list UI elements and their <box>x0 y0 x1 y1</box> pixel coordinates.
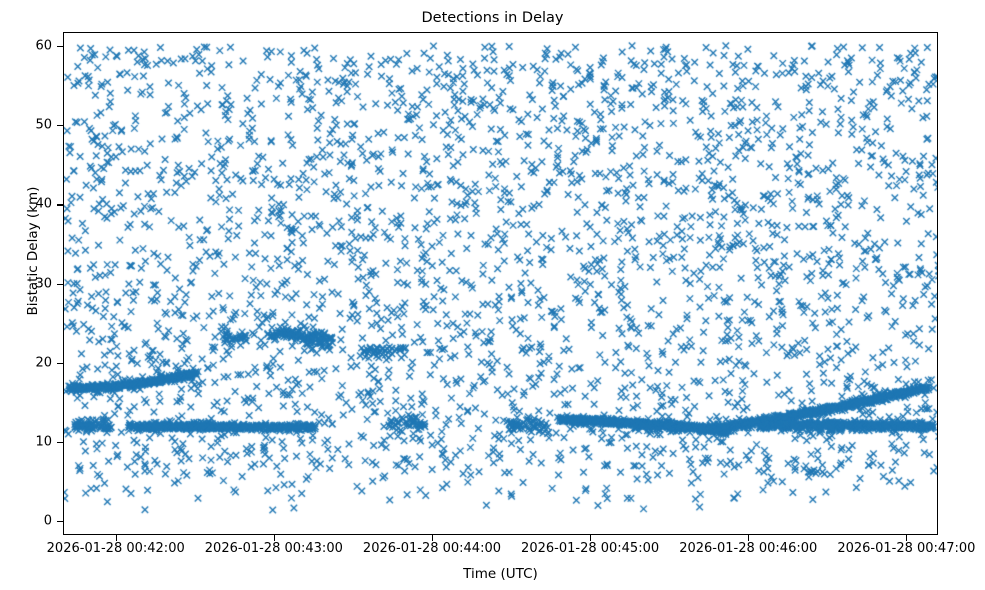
y-axis-tick-label: 60 <box>35 39 52 54</box>
scatter-plot-canvas <box>64 33 938 535</box>
x-axis-tick-mark <box>432 535 433 541</box>
y-axis-tick-mark <box>57 125 63 126</box>
plot-axes-area <box>63 32 938 535</box>
y-axis-tick-mark <box>57 204 63 205</box>
x-axis-tick-label: 2026-01-28 00:43:00 <box>205 541 343 556</box>
y-axis-tick-mark <box>57 521 63 522</box>
y-axis-tick-label: 0 <box>44 513 52 528</box>
x-axis-tick-mark <box>590 535 591 541</box>
y-axis-tick-mark <box>57 442 63 443</box>
y-axis-label: Bistatic Delay (km) <box>25 131 41 371</box>
x-axis-tick-mark <box>116 535 117 541</box>
y-axis-tick-mark <box>57 363 63 364</box>
x-axis-tick-mark <box>274 535 275 541</box>
y-axis-tick-mark <box>57 284 63 285</box>
x-axis-tick-label: 2026-01-28 00:42:00 <box>47 541 185 556</box>
y-axis-tick-mark <box>57 46 63 47</box>
x-axis-tick-label: 2026-01-28 00:45:00 <box>521 541 659 556</box>
y-axis-tick-label: 10 <box>35 434 52 449</box>
page-title: Detections in Delay <box>0 10 985 26</box>
x-axis-tick-label: 2026-01-28 00:46:00 <box>679 541 817 556</box>
x-axis-tick-label: 2026-01-28 00:44:00 <box>363 541 501 556</box>
x-axis-tick-label: 2026-01-28 00:47:00 <box>837 541 975 556</box>
x-axis-tick-mark <box>906 535 907 541</box>
x-axis-tick-mark <box>748 535 749 541</box>
matplotlib-figure: Detections in Delay 0102030405060 2026-0… <box>0 0 985 590</box>
x-axis-label: Time (UTC) <box>63 566 938 582</box>
